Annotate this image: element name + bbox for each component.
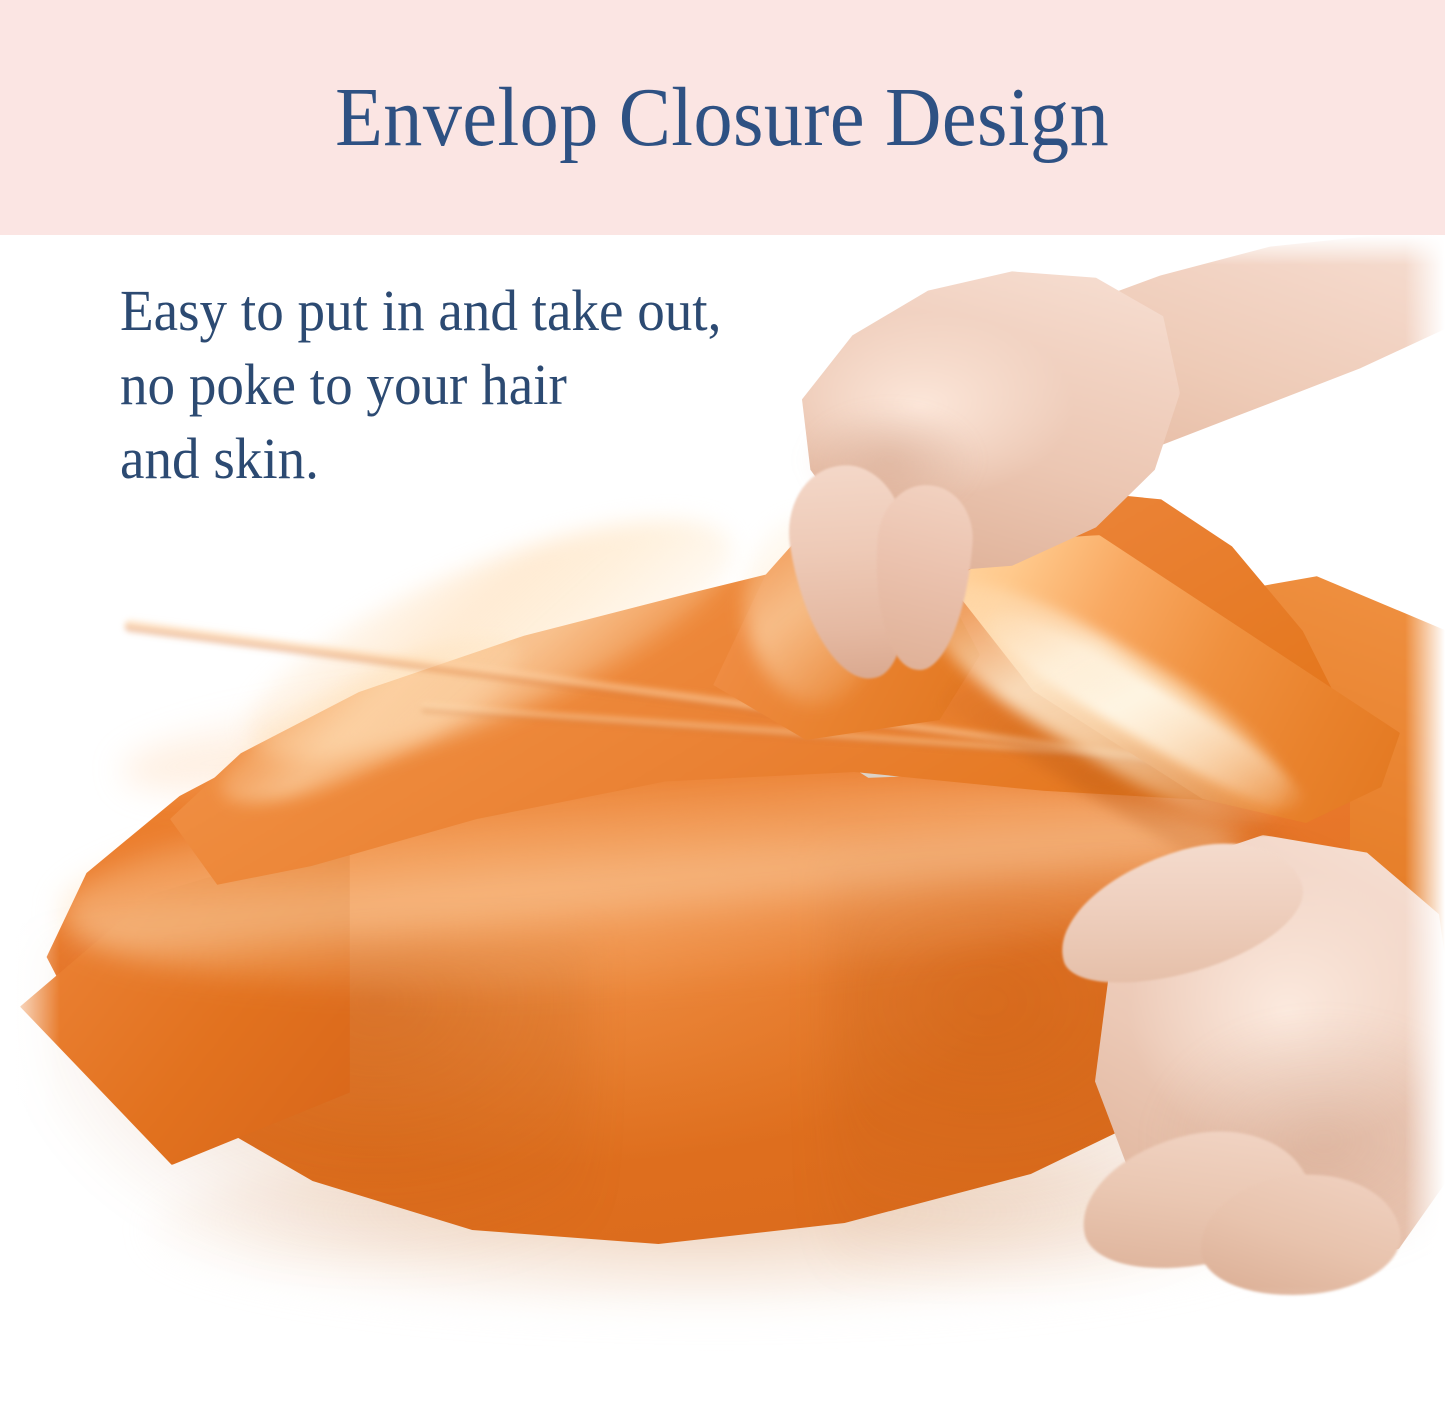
caption-line-2: no poke to your hair [120, 348, 871, 422]
page-title: Envelop Closure Design [336, 76, 1110, 160]
feature-caption: Easy to put in and take out, no poke to … [120, 274, 910, 496]
product-feature-card: Envelop Closure Design Easy to put in an… [0, 0, 1445, 1406]
header-banner: Envelop Closure Design [0, 0, 1445, 235]
caption-line-1: Easy to put in and take out, [120, 274, 871, 348]
caption-line-3: and skin. [120, 422, 871, 496]
